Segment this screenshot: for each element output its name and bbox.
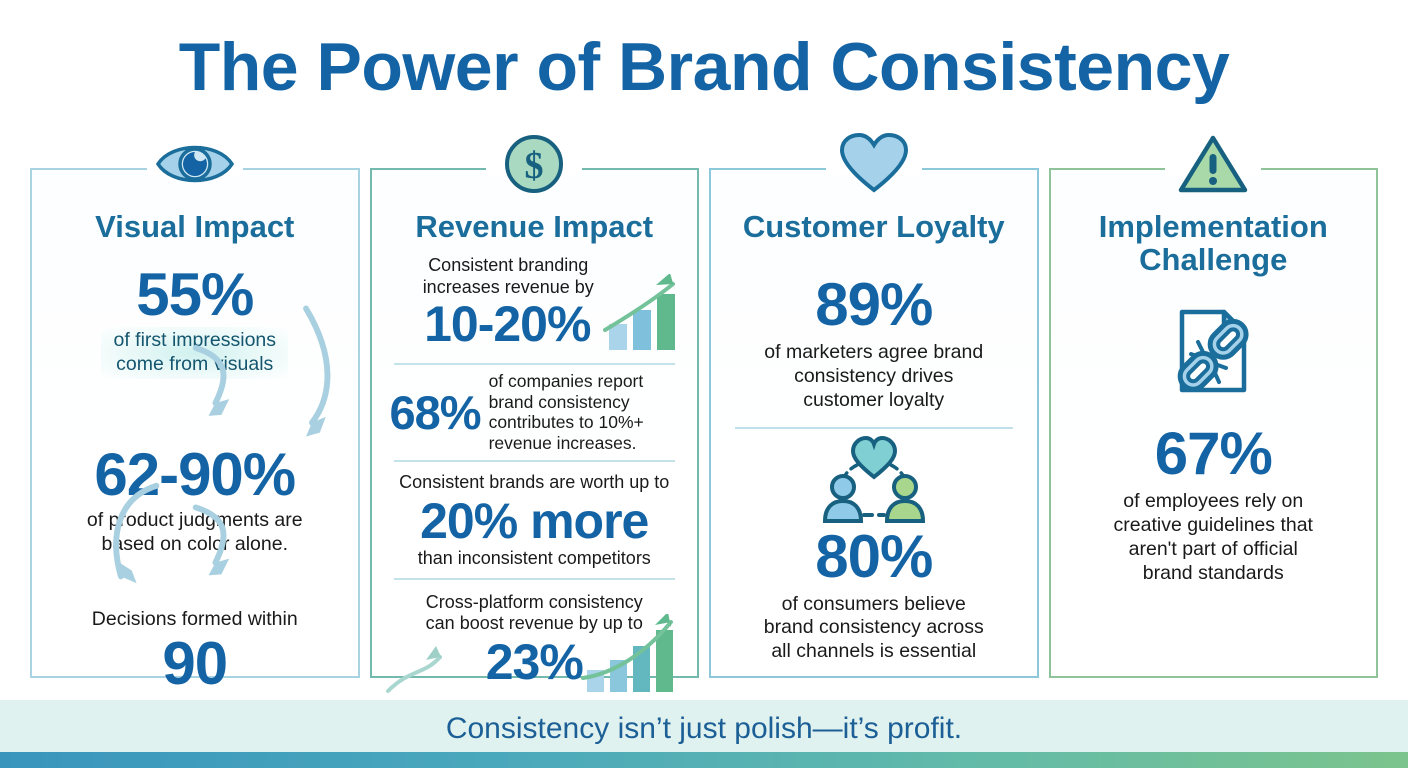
stat-value-67: 67% <box>1067 424 1361 484</box>
card-title-revenue-impact: Revenue Impact <box>388 210 682 243</box>
stat-value-55: 55% <box>48 265 342 325</box>
stat-caption-55-text: of first impressions come from visuals <box>101 327 288 379</box>
people-heart-icon <box>727 433 1021 525</box>
stat-caption-55: of first impressions come from visuals <box>48 327 342 379</box>
revenue-lead-20-more: Consistent brands are worth up to <box>388 472 682 494</box>
page-title: The Power of Brand Consistency <box>0 28 1408 106</box>
divider <box>735 427 1013 429</box>
stat-caption-67: of employees rely on creative guidelines… <box>1067 490 1361 585</box>
card-visual-impact: Visual Impact 55% of first impressions c… <box>30 168 360 678</box>
revenue-block-23: Cross-platform consistency can boost rev… <box>388 584 682 688</box>
card-title-visual-impact: Visual Impact <box>48 210 342 243</box>
revenue-trail-20-more: than inconsistent competitors <box>388 548 682 570</box>
stat-value-62-90: 62-90% <box>48 445 342 505</box>
revenue-caption-68: of companies report brand consistency co… <box>489 371 644 454</box>
stat-block-89: 89% of marketers agree brand consistency… <box>727 275 1021 412</box>
card-implementation-challenge: Implementation Challenge <box>1049 168 1379 678</box>
svg-text:$: $ <box>525 145 544 187</box>
footer-tagline: Consistency isn’t just polish—it’s profi… <box>446 712 962 756</box>
warning-triangle-icon <box>1170 126 1256 202</box>
stat-caption-62-90: of product judgments are based on color … <box>48 509 342 557</box>
columns-container: Visual Impact 55% of first impressions c… <box>30 168 1378 678</box>
revenue-value-20-more: 20% more <box>388 496 682 546</box>
bar-chart-3-icon <box>603 274 685 357</box>
stat-block-67: 67% of employees rely on creative guidel… <box>1067 424 1361 585</box>
stat-caption-89: of marketers agree brand consistency dri… <box>727 341 1021 412</box>
card-title-implementation-challenge: Implementation Challenge <box>1067 210 1361 276</box>
revenue-block-10-20: Consistent branding increases revenue by… <box>388 249 682 359</box>
revenue-block-68: 68% of companies report brand consistenc… <box>388 369 682 456</box>
divider <box>394 578 676 580</box>
heart-icon <box>831 126 917 202</box>
stat-block-80: 80% of consumers believe brand consisten… <box>727 433 1021 664</box>
stat-block-62-90: 62-90% of product judgments are based on… <box>48 445 342 557</box>
stat-label-90-seconds: Decisions formed within <box>48 608 342 632</box>
stat-caption-80: of consumers believe brand consistency a… <box>727 593 1021 664</box>
eye-icon <box>152 126 238 202</box>
card-title-customer-loyalty: Customer Loyalty <box>727 210 1021 243</box>
footer-gradient-bar <box>0 752 1408 768</box>
infographic-page: The Power of Brand Consistency <box>0 0 1408 768</box>
divider <box>394 363 676 365</box>
stat-block-55: 55% of first impressions come from visua… <box>48 265 342 379</box>
revenue-value-68: 68% <box>390 389 481 436</box>
stat-value-80: 80% <box>727 527 1021 587</box>
broken-chain-document-icon <box>1067 292 1361 410</box>
card-customer-loyalty: Customer Loyalty 89% of marketers agree … <box>709 168 1039 678</box>
bar-chart-4-icon <box>581 614 685 697</box>
stat-value-89: 89% <box>727 275 1021 335</box>
dollar-circle-icon: $ <box>491 126 577 202</box>
card-revenue-impact: $ Revenue Impact Consistent branding inc… <box>370 168 700 678</box>
divider <box>394 460 676 462</box>
trend-line-arrow-icon <box>384 623 504 697</box>
revenue-block-20-more: Consistent brands are worth up to 20% mo… <box>388 466 682 574</box>
